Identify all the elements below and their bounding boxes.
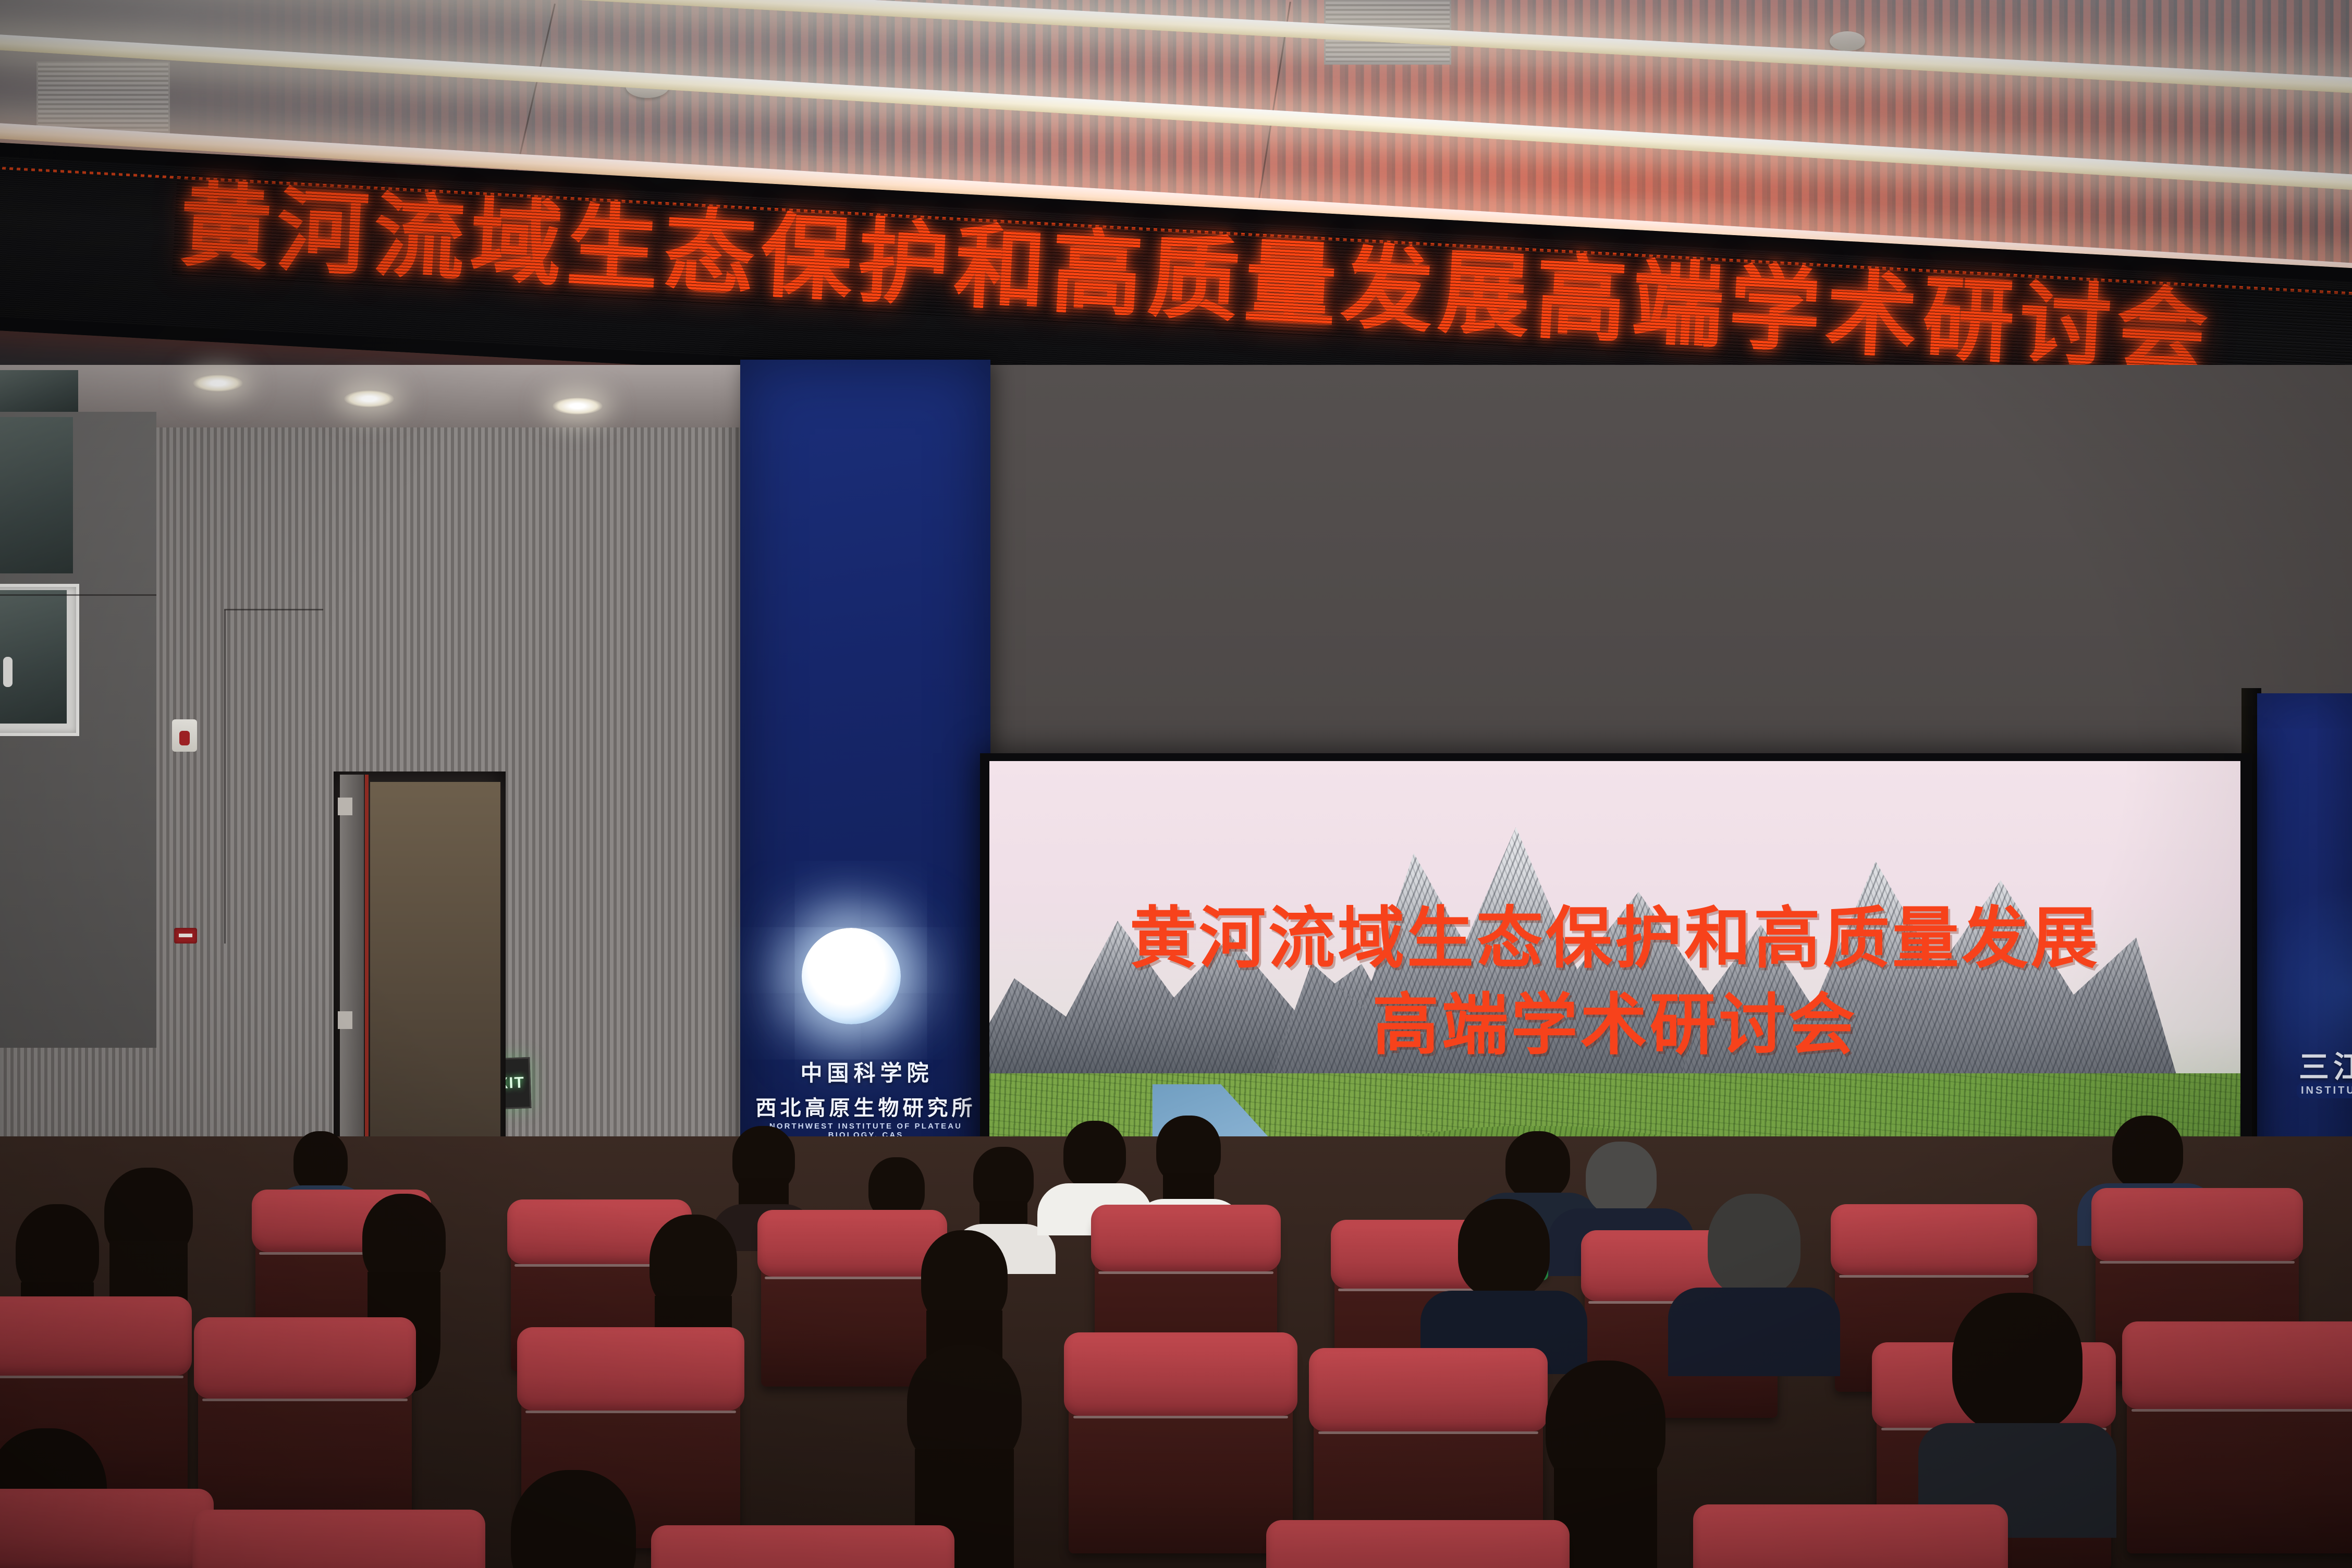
- window-wall: [0, 412, 156, 1048]
- door-hinge-icon: [338, 1011, 352, 1029]
- window-glass-upper: [0, 417, 73, 573]
- audience-member: [719, 1126, 808, 1215]
- wall-panel-seam: [224, 609, 323, 610]
- pillar-right-label-en: INSTITU: [2297, 1083, 2352, 1098]
- audience-member: [1142, 1116, 1235, 1215]
- wall-panel-seam: [0, 594, 156, 596]
- audience-member: [1929, 1293, 2106, 1527]
- ceiling-downlight: [553, 397, 603, 415]
- auditorium-seat[interactable]: [657, 1538, 949, 1568]
- audience-member: [1689, 1194, 1819, 1350]
- fire-alarm-pull-station-icon[interactable]: [174, 928, 197, 944]
- conference-photo: 黄河流域生态保护和高质量发展高端学术研讨会 安全出口 EXIT: [0, 0, 2352, 1568]
- ceiling-downlight: [344, 390, 394, 408]
- fire-alarm-strobe-icon: [172, 719, 197, 752]
- smoke-detector-icon: [1830, 31, 1865, 51]
- auditorium-seat[interactable]: [1699, 1517, 2002, 1568]
- wall-sconce-light: [802, 928, 901, 1024]
- pillar-academy-name: 中国科学院: [755, 1056, 979, 1087]
- ceiling-downlight: [193, 374, 243, 392]
- slide-title: 黄河流域生态保护和高质量发展 高端学术研讨会: [989, 896, 2240, 1069]
- audience-seating: C'estbon C'estbon: [0, 1136, 2352, 1568]
- audience-member: [1048, 1121, 1142, 1215]
- audience-member: [959, 1147, 1048, 1235]
- auditorium-seat[interactable]: [198, 1522, 480, 1568]
- slide-title-line1: 黄河流域生态保护和高质量发展: [989, 896, 2240, 982]
- window-glass-top: [0, 370, 78, 412]
- auditorium-seat[interactable]: [2127, 1334, 2352, 1553]
- auditorium-seat[interactable]: [1069, 1345, 1293, 1553]
- door-hinge-icon: [338, 798, 352, 815]
- auditorium-seat[interactable]: [0, 1501, 209, 1568]
- window-handle[interactable]: [3, 657, 13, 687]
- auditorium-seat[interactable]: [198, 1329, 412, 1533]
- auditorium-seat[interactable]: [1272, 1533, 1564, 1568]
- audience-member: [490, 1470, 657, 1568]
- audience-member: [344, 1194, 464, 1329]
- audience-member: [1439, 1199, 1569, 1355]
- slide-title-line2: 高端学术研讨会: [989, 982, 2240, 1069]
- pillar-institute-name: 西北高原生物研究所: [749, 1091, 983, 1121]
- air-vent-left: [36, 62, 170, 133]
- wall-panel-seam: [224, 610, 226, 944]
- pillar-right-label-cn: 三江: [2299, 1043, 2352, 1086]
